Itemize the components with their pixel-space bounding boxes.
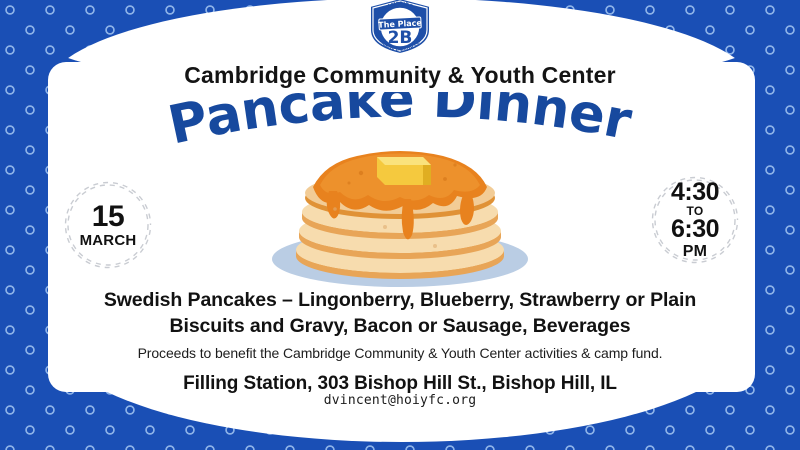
date-month: MARCH: [80, 233, 137, 248]
time-start: 4:30: [671, 180, 719, 206]
pancake-dinner-flyer: CAMBRIDGE COMMUNITY & YOUTH CENTER The P…: [0, 0, 800, 450]
menu-info-block: Swedish Pancakes – Lingonberry, Blueberr…: [52, 288, 748, 395]
menu-line-1: Swedish Pancakes – Lingonberry, Blueberr…: [52, 288, 748, 314]
event-title-arched: Pancake Dinner: [0, 92, 800, 158]
organization-logo-badge: CAMBRIDGE COMMUNITY & YOUTH CENTER The P…: [366, 0, 434, 55]
contact-email: dvincent@hoiyfc.org: [0, 393, 800, 408]
proceeds-note: Proceeds to benefit the Cambridge Commun…: [52, 345, 748, 361]
time-end: 6:30: [671, 217, 719, 243]
date-badge: 15 MARCH: [58, 175, 158, 275]
time-meridiem: PM: [671, 244, 719, 260]
menu-line-2: Biscuits and Gravy, Bacon or Sausage, Be…: [52, 314, 748, 340]
time-badge: 4:30 TO 6:30 PM: [645, 170, 745, 270]
event-title-text: Pancake Dinner: [163, 92, 636, 157]
organization-title: Cambridge Community & Youth Center: [0, 62, 800, 89]
date-day: 15: [80, 202, 137, 233]
logo-monogram: 2B: [388, 28, 413, 48]
svg-text:Pancake Dinner: Pancake Dinner: [163, 92, 636, 157]
